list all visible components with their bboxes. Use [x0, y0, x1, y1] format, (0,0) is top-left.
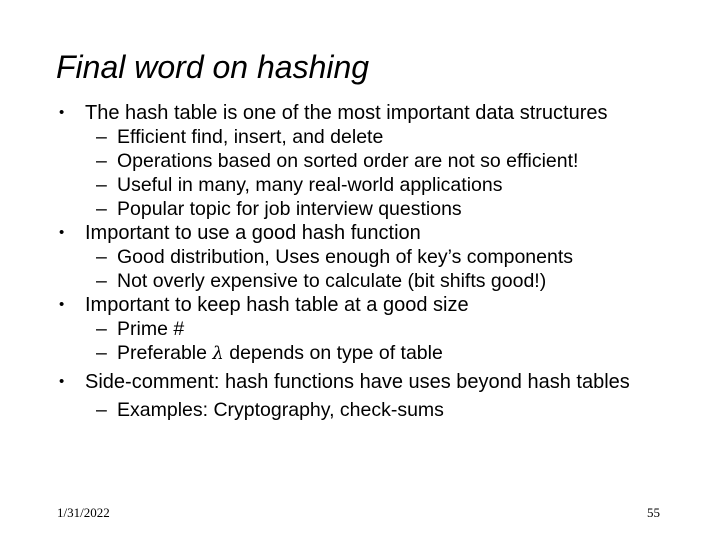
dash-marker-icon: –: [96, 398, 117, 422]
list-item-label: Useful in many, many real-world applicat…: [117, 173, 696, 197]
list-item-label: Side-comment: hash functions have uses b…: [85, 370, 696, 394]
list-item: – Prime #: [96, 317, 696, 341]
list-item: – Useful in many, many real-world applic…: [96, 173, 696, 197]
list-item: – Not overly expensive to calculate (bit…: [96, 269, 696, 293]
list-item: – Examples: Cryptography, check-sums: [96, 398, 696, 422]
dash-marker-icon: –: [96, 245, 117, 269]
list-item: – Good distribution, Uses enough of key’…: [96, 245, 696, 269]
slide-canvas: Final word on hashing • The hash table i…: [0, 0, 720, 540]
list-item: • Side-comment: hash functions have uses…: [56, 370, 696, 394]
dash-marker-icon: –: [96, 341, 117, 365]
dash-marker-icon: –: [96, 125, 117, 149]
list-item-label: Good distribution, Uses enough of key’s …: [117, 245, 696, 269]
list-item: • Important to keep hash table at a good…: [56, 293, 696, 317]
bullet-list: • The hash table is one of the most impo…: [56, 101, 696, 422]
list-item-label: Preferable λ depends on type of table: [117, 341, 696, 366]
list-item-label: Prime #: [117, 317, 696, 341]
footer-date: 1/31/2022: [57, 505, 110, 521]
dash-marker-icon: –: [96, 149, 117, 173]
list-item: – Popular topic for job interview questi…: [96, 197, 696, 221]
list-item-label: Efficient find, insert, and delete: [117, 125, 696, 149]
bullet-marker-icon: •: [56, 101, 85, 125]
list-item-label: Operations based on sorted order are not…: [117, 149, 696, 173]
list-item: • The hash table is one of the most impo…: [56, 101, 696, 125]
list-item-label: Examples: Cryptography, check-sums: [117, 398, 696, 422]
dash-marker-icon: –: [96, 197, 117, 221]
list-item: • Important to use a good hash function: [56, 221, 696, 245]
bullet-marker-icon: •: [56, 221, 85, 245]
list-item-label: Popular topic for job interview question…: [117, 197, 696, 221]
dash-marker-icon: –: [96, 173, 117, 197]
list-item: – Operations based on sorted order are n…: [96, 149, 696, 173]
list-item: – Efficient find, insert, and delete: [96, 125, 696, 149]
list-item-label: The hash table is one of the most import…: [85, 101, 696, 125]
bullet-marker-icon: •: [56, 370, 85, 394]
list-item-label: Not overly expensive to calculate (bit s…: [117, 269, 696, 293]
footer-page-number: 55: [600, 505, 660, 521]
list-item: – Preferable λ depends on type of table: [96, 341, 696, 366]
page-title: Final word on hashing: [56, 48, 369, 86]
list-item-label: Important to use a good hash function: [85, 221, 696, 245]
lambda-symbol: λ: [212, 343, 223, 364]
list-item-label: Important to keep hash table at a good s…: [85, 293, 696, 317]
dash-marker-icon: –: [96, 317, 117, 341]
bullet-marker-icon: •: [56, 293, 85, 317]
dash-marker-icon: –: [96, 269, 117, 293]
